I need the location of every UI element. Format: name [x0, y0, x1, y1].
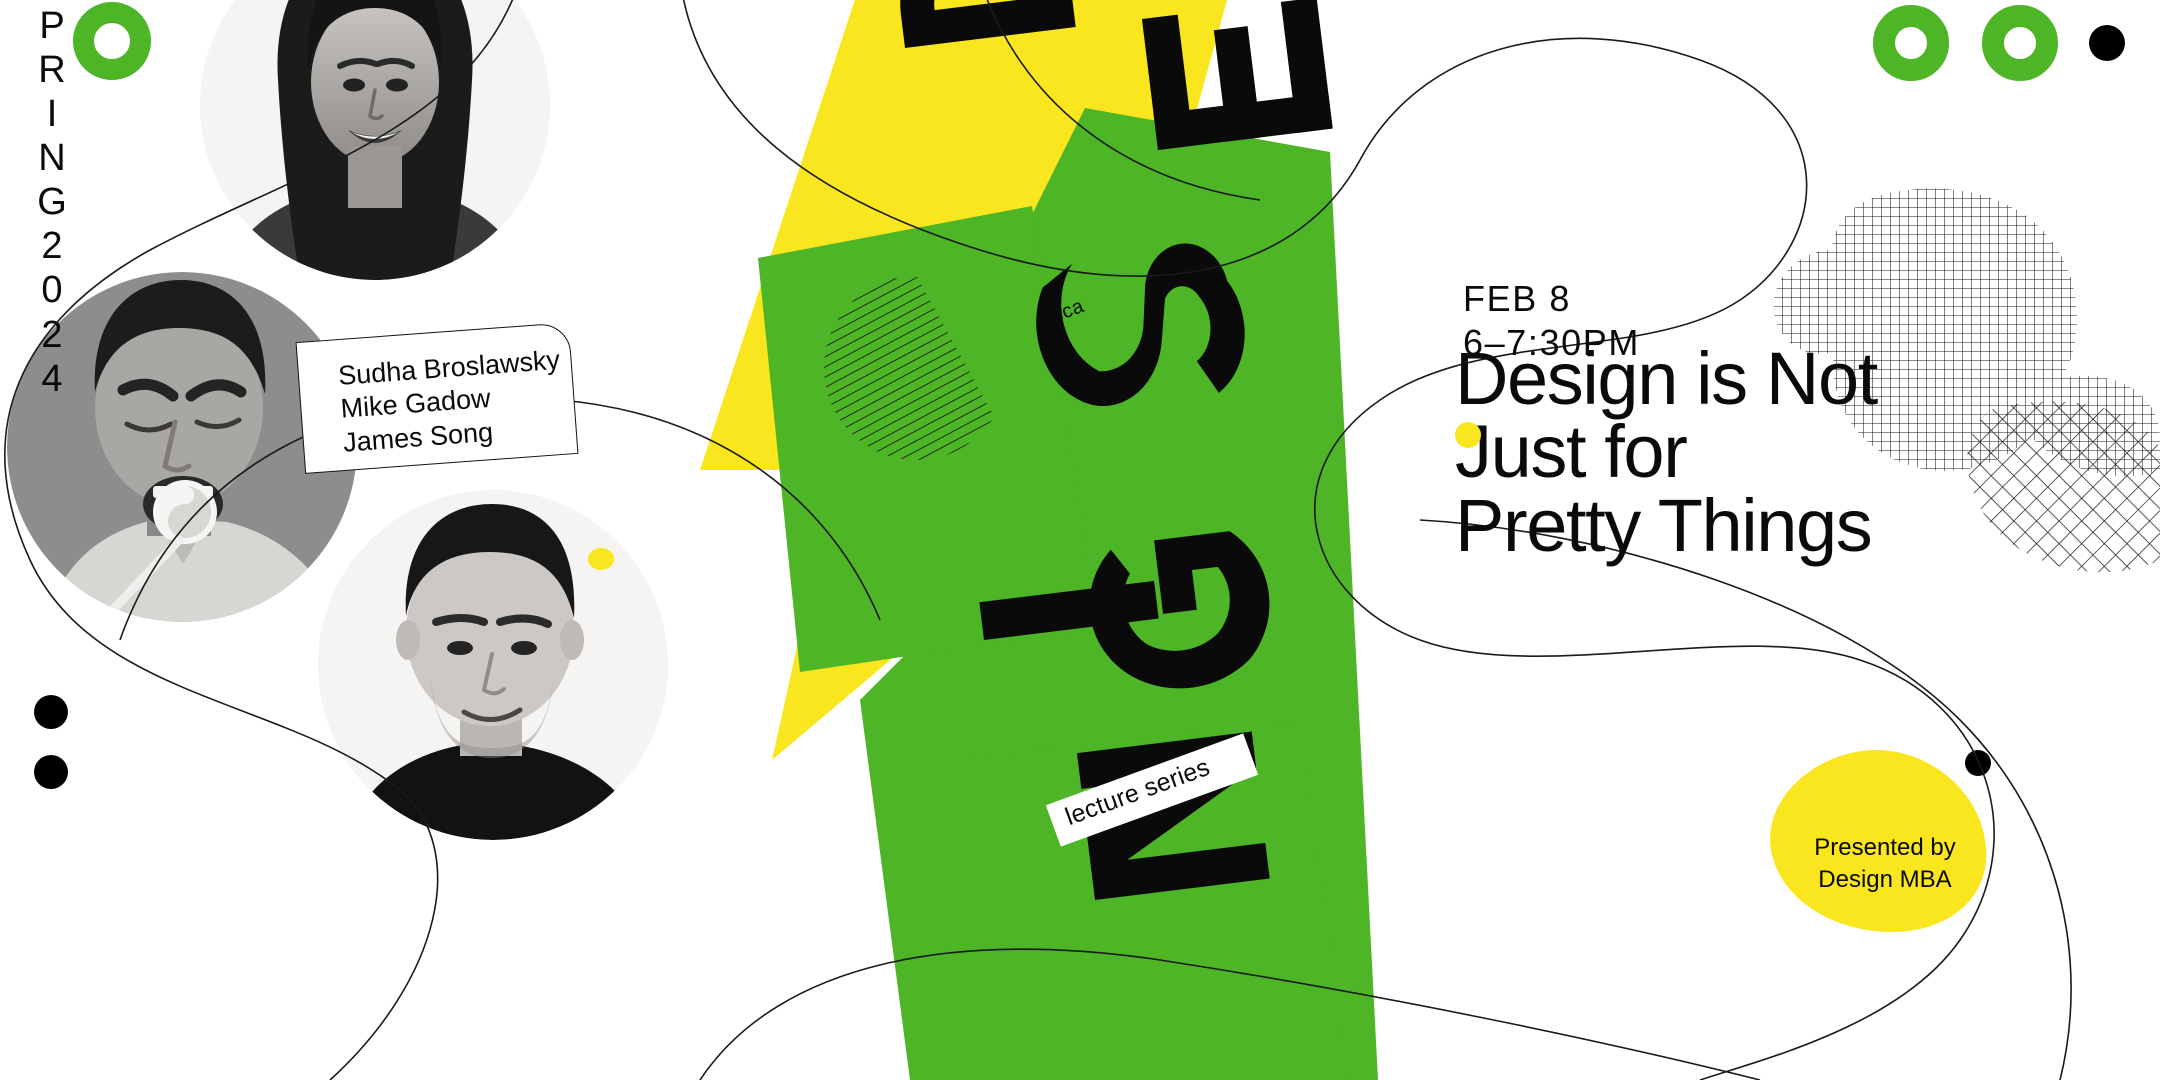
- season-letter: R: [22, 48, 82, 92]
- presented-by-line: Design MBA: [1790, 864, 1980, 896]
- season-label: P R I N G 2 0 2 4: [22, 4, 82, 401]
- speaker-names-list: Sudha Broslawsky Mike Gadow James Song: [308, 328, 586, 462]
- season-letter: 2: [22, 224, 82, 268]
- black-dot-top-right: [2089, 25, 2125, 61]
- season-letter: G: [22, 180, 82, 224]
- season-letter: I: [22, 92, 82, 136]
- green-ring-2: [1982, 5, 2058, 81]
- headline-line: Pretty Things: [1455, 489, 1877, 562]
- season-letter: 4: [22, 357, 82, 401]
- letter-G: [1082, 527, 1279, 699]
- accent-dot-yellow: [588, 548, 614, 570]
- green-ring-1: [1873, 5, 1949, 81]
- presented-by-text: Presented by Design MBA: [1790, 832, 1980, 895]
- letter-D: [890, 0, 1075, 48]
- poster-canvas: P R I N G 2 0 2 4 Sudha Broslawsky Mike …: [0, 0, 2160, 1080]
- event-headline: Design is Not Just for Pretty Things: [1455, 342, 1877, 562]
- black-dot-bottom-left-2: [34, 755, 68, 789]
- season-letter: 0: [22, 268, 82, 312]
- letter-E: [1142, 0, 1333, 150]
- season-letter: P: [22, 4, 82, 48]
- headline-line: Just for: [1455, 415, 1877, 488]
- accent-dot-headline: [1455, 422, 1481, 448]
- season-letter: N: [22, 136, 82, 180]
- season-letter: 2: [22, 313, 82, 357]
- event-date: FEB 8: [1463, 277, 1640, 321]
- headline-line: Design is Not: [1455, 342, 1877, 415]
- presented-by-line: Presented by: [1790, 832, 1980, 864]
- black-dot-bottom-left-1: [34, 695, 68, 729]
